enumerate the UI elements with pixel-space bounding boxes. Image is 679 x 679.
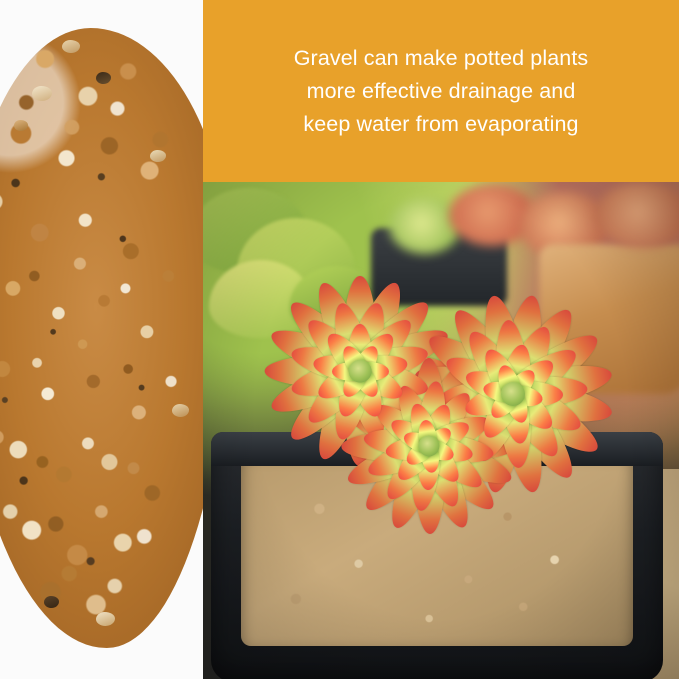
gravel-pile bbox=[0, 28, 203, 648]
caption-banner: Gravel can make potted plants more effec… bbox=[203, 0, 679, 182]
product-image: Gravel can make potted plants more effec… bbox=[0, 0, 679, 679]
succulent-core bbox=[501, 382, 525, 406]
caption-text: Gravel can make potted plants more effec… bbox=[280, 42, 603, 141]
succulent-core bbox=[349, 360, 372, 383]
gravel-photo-panel bbox=[0, 0, 203, 679]
succulent-core bbox=[418, 435, 439, 456]
succulent-photo-panel bbox=[203, 182, 679, 679]
gravel-grain-layer-3 bbox=[0, 28, 203, 648]
